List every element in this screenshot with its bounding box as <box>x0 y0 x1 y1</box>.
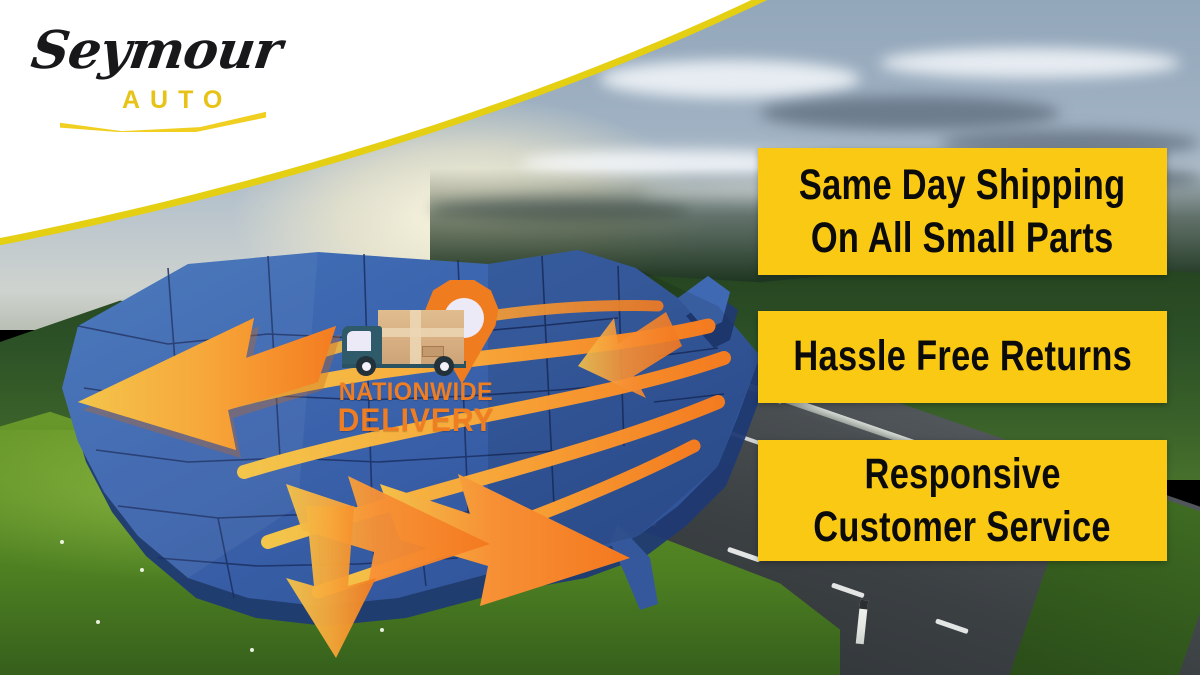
logo-auto-text: AUTO <box>122 86 232 115</box>
box-tape-horizontal <box>378 328 464 337</box>
logo-script-text: Seymour <box>28 20 285 81</box>
banner-3-line-2: Customer Service <box>814 501 1112 553</box>
delivery-line-2: DELIVERY <box>331 405 500 436</box>
promo-banner-stage: Seymour AUTO <box>0 0 1200 675</box>
truck-wheel-front <box>356 356 376 376</box>
box-tape-vertical <box>410 310 421 364</box>
banner-1-line-1: Same Day Shipping <box>799 159 1126 211</box>
brand-logo[interactable]: Seymour AUTO <box>26 18 276 123</box>
banner-1-line-2: On All Small Parts <box>811 212 1114 264</box>
feature-banner-same-day-shipping[interactable]: Same Day Shipping On All Small Parts <box>758 148 1167 275</box>
feature-banner-hassle-free-returns[interactable]: Hassle Free Returns <box>758 311 1167 403</box>
feature-banner-responsive-customer-service[interactable]: Responsive Customer Service <box>758 440 1167 561</box>
banner-2-line-1: Hassle Free Returns <box>793 333 1132 380</box>
truck-box-body <box>378 310 464 364</box>
nationwide-delivery-badge: NATIONWIDE DELIVERY <box>326 276 506 446</box>
banner-3-line-1: Responsive <box>864 448 1060 500</box>
delivery-caption: NATIONWIDE DELIVERY <box>326 380 506 436</box>
truck-wheel-rear <box>434 356 454 376</box>
truck-window <box>347 331 371 351</box>
